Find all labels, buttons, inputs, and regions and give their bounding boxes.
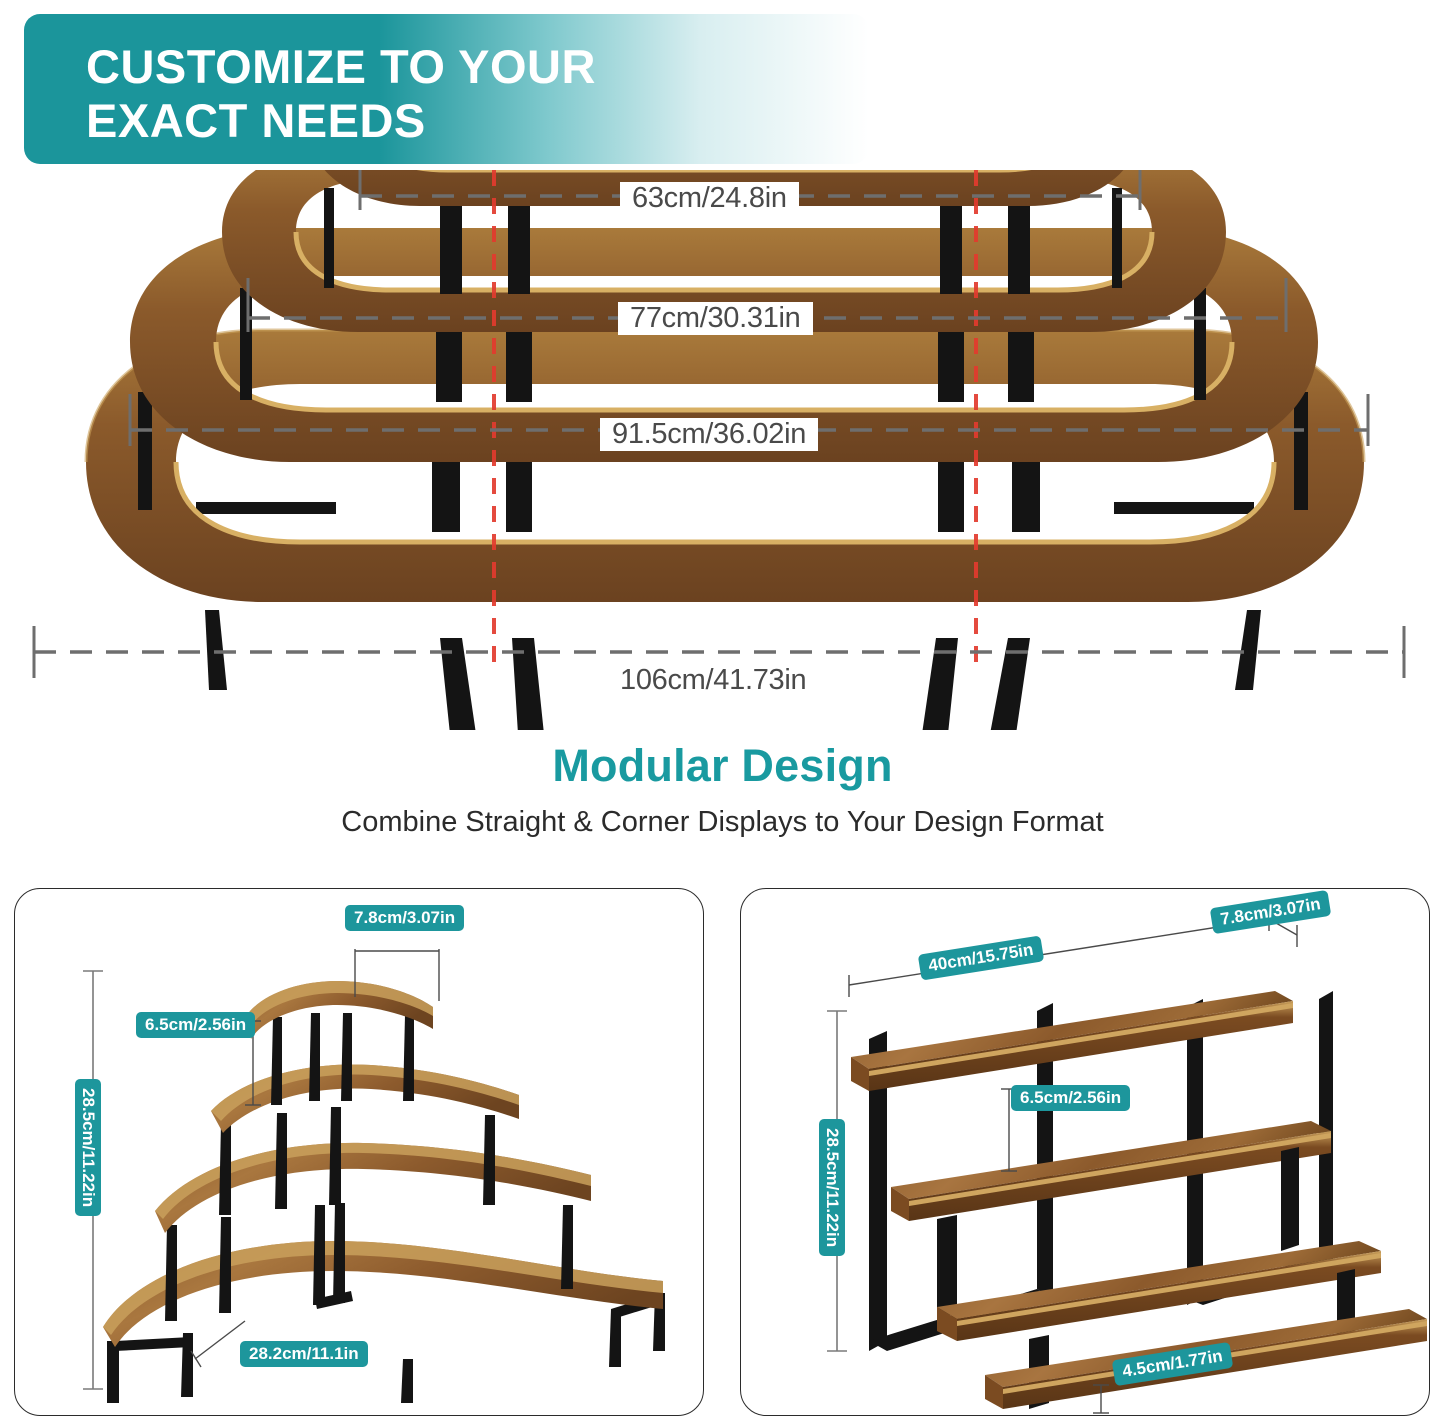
banner-headline: CUSTOMIZE TO YOUR EXACT NEEDS <box>86 40 786 147</box>
straight-tier1 <box>851 991 1293 1091</box>
straight-display-panel: 40cm/15.75in 7.8cm/3.07in 6.5cm/2.56in 2… <box>740 888 1430 1416</box>
hero-dim-tier3: 91.5cm/36.02in <box>600 418 818 451</box>
tier4-shelf <box>86 330 1364 602</box>
modular-design-subtitle: Combine Straight & Corner Displays to Yo… <box>0 806 1445 839</box>
corner-display-panel: 7.8cm/3.07in 6.5cm/2.56in 28.5cm/11.22in… <box>14 888 704 1416</box>
callout-corner-height: 28.5cm/11.22in <box>75 1079 101 1216</box>
callout-corner-base-width: 28.2cm/11.1in <box>240 1341 368 1367</box>
hero-dim-tier2: 77cm/30.31in <box>618 302 813 335</box>
corner-display-svg <box>15 889 704 1416</box>
callout-straight-tier-gap: 6.5cm/2.56in <box>1011 1085 1130 1111</box>
tier4-edge-highlight <box>176 462 1274 542</box>
infographic-root: CUSTOMIZE TO YOUR EXACT NEEDS <box>0 0 1445 1427</box>
corner-tier2 <box>211 1064 519 1215</box>
callout-corner-top-depth: 7.8cm/3.07in <box>345 905 464 931</box>
hero-dim-tier1: 63cm/24.8in <box>620 182 799 215</box>
corner-tier4 <box>103 1241 665 1403</box>
callout-straight-height: 28.5cm/11.22in <box>819 1119 845 1256</box>
callout-corner-tier-gap: 6.5cm/2.56in <box>136 1012 255 1038</box>
hero-dim-tier4: 106cm/41.73in <box>608 664 818 697</box>
hero-diagram: 63cm/24.8in 77cm/30.31in 91.5cm/36.02in … <box>0 170 1445 730</box>
modular-design-title: Modular Design <box>0 740 1445 792</box>
header-banner: CUSTOMIZE TO YOUR EXACT NEEDS <box>24 14 869 164</box>
